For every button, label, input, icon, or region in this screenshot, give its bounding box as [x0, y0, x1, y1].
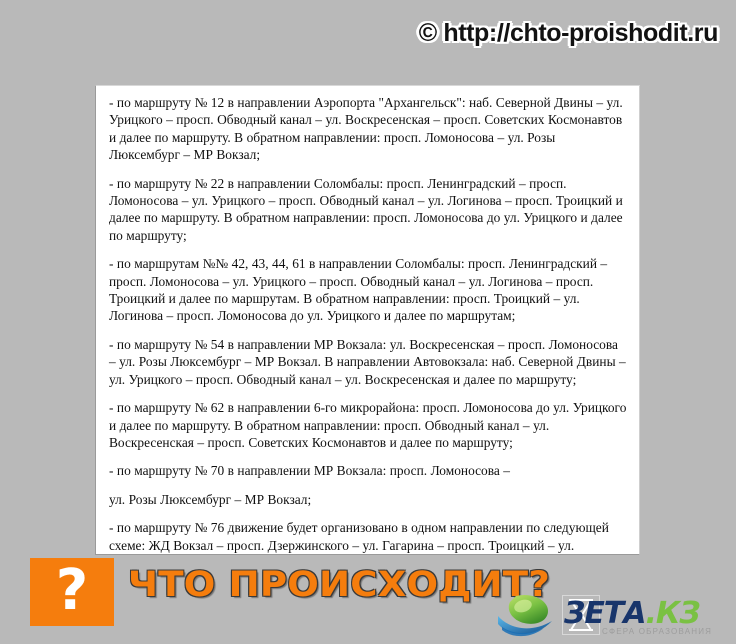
article-content-panel: - по маршруту № 12 в направлении Аэропор… [95, 85, 640, 555]
question-mark-icon: ? [30, 558, 114, 626]
route-paragraph: - по маршруту № 62 в направлении 6-го ми… [109, 399, 627, 451]
route-paragraph: - по маршрутам №№ 42, 43, 44, 61 в напра… [109, 255, 627, 325]
route-paragraph: - по маршруту № 76 движение будет органи… [109, 519, 627, 555]
brand-footer: ? ЧТО ПРОИСХОДИТ? [0, 555, 736, 644]
route-paragraph: - по маршруту № 22 в направлении Соломба… [109, 175, 627, 245]
site-url-watermark: © http://chto-proishodit.ru [419, 19, 718, 48]
top-watermark-bar: © http://chto-proishodit.ru [0, 0, 736, 64]
logo-tld: .КЗ [646, 596, 700, 631]
brand-title: ЧТО ПРОИСХОДИТ? [128, 565, 550, 605]
route-paragraph: ул. Розы Люксембург – МР Вокзал; [109, 491, 627, 508]
route-paragraph: - по маршруту № 54 в направлении МР Вокз… [109, 336, 627, 388]
route-paragraph: - по маршруту № 70 в направлении МР Вокз… [109, 462, 627, 479]
globe-icon [496, 594, 558, 638]
logo-tagline: СФЕРА ОБРАЗОВАНИЯ [602, 627, 712, 636]
logo-name: ЗЕТА [564, 596, 646, 631]
logo-wordmark: ЗЕТА.КЗ [564, 596, 700, 631]
partner-logo: ЗЕТА.КЗ СФЕРА ОБРАЗОВАНИЯ [490, 590, 736, 642]
question-mark-logo-box: ? [30, 558, 114, 626]
route-paragraph: - по маршруту № 12 в направлении Аэропор… [109, 94, 627, 164]
